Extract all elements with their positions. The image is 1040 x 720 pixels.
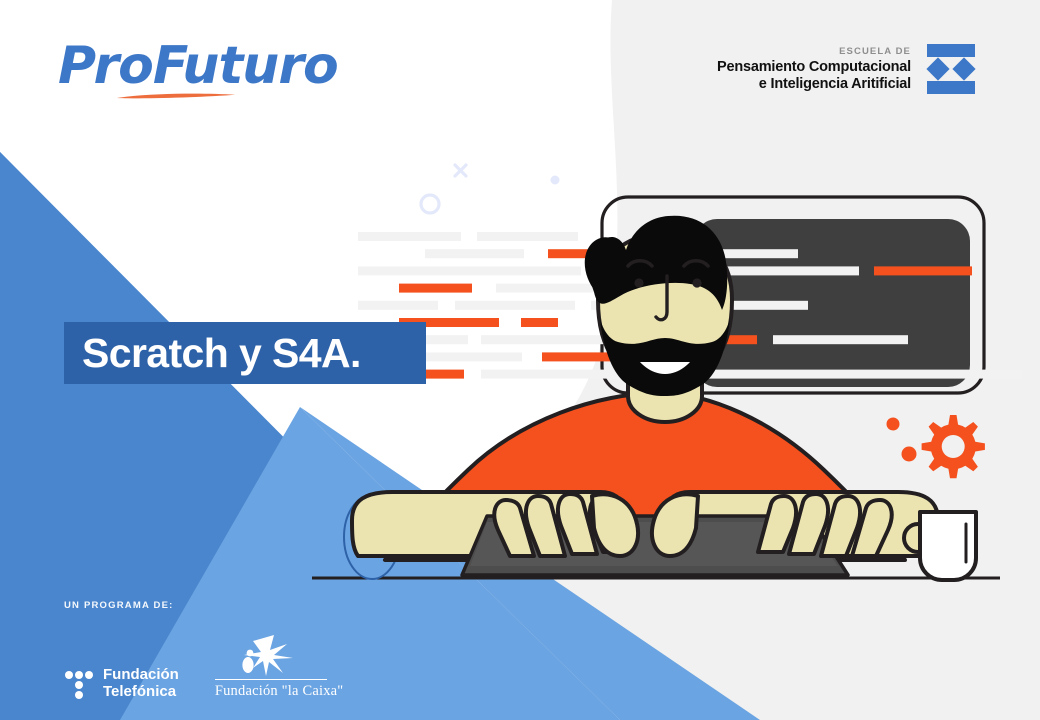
escuela-lockup: ESCUELA DE Pensamiento Computacional e I…	[717, 42, 978, 96]
telefonica-wordmark: Fundación Telefónica	[103, 667, 179, 700]
caixa-wordmark: Fundación "la Caixa"	[215, 683, 331, 700]
gear-icon	[922, 415, 985, 478]
eye-left	[634, 278, 643, 287]
right-hand	[652, 494, 892, 556]
title-banner: Scratch y S4A.	[64, 322, 426, 384]
code-line-segment	[358, 266, 581, 275]
coffee-mug	[920, 512, 976, 580]
profuturo-swoosh-icon	[100, 92, 252, 100]
caixa-rule	[215, 679, 327, 680]
code-line-segment	[425, 249, 524, 258]
escuela-line-2: e Inteligencia Aritificial	[717, 76, 911, 93]
fundacion-la-caixa-logo: Fundación "la Caixa"	[215, 633, 331, 700]
code-line-segment	[477, 232, 578, 241]
escuela-line-1: Pensamiento Computacional	[717, 59, 911, 76]
code-line-segment	[425, 352, 522, 361]
code-line-segment	[521, 318, 558, 327]
code-line-segment	[358, 301, 438, 310]
diamond-bars-icon	[924, 42, 978, 96]
slide-root: ProFuturo ESCUELA DE Pensamiento Computa…	[0, 0, 1040, 720]
profuturo-wordmark: ProFuturo	[58, 38, 288, 94]
accent-dot-2	[902, 447, 917, 462]
sponsor-logos: Fundación Telefónica Fundación "la Caixa…	[64, 633, 364, 700]
code-line-segment	[399, 284, 472, 293]
profuturo-logo: ProFuturo	[58, 38, 288, 114]
code-line-segment	[358, 232, 461, 241]
telefonica-dots-t-icon	[64, 669, 94, 699]
escuela-text-block: ESCUELA DE Pensamiento Computacional e I…	[717, 46, 911, 92]
code-line-segment	[773, 335, 908, 344]
sponsors-block: UN PROGRAMA DE: Fundación Telefónica	[64, 600, 364, 700]
code-line-segment	[874, 266, 972, 275]
accent-dot-1	[887, 418, 900, 431]
code-line-segment	[455, 301, 575, 310]
eye-right	[692, 278, 701, 287]
programa-label: UN PROGRAMA DE:	[64, 600, 364, 611]
page-title: Scratch y S4A.	[82, 330, 361, 377]
telefonica-line-2: Telefónica	[103, 684, 179, 701]
fundacion-telefonica-logo: Fundación Telefónica	[64, 667, 179, 700]
caixa-star-icon	[233, 633, 297, 677]
escuela-kicker: ESCUELA DE	[717, 46, 911, 58]
code-line-segment	[682, 370, 1022, 379]
telefonica-line-1: Fundación	[103, 667, 179, 684]
